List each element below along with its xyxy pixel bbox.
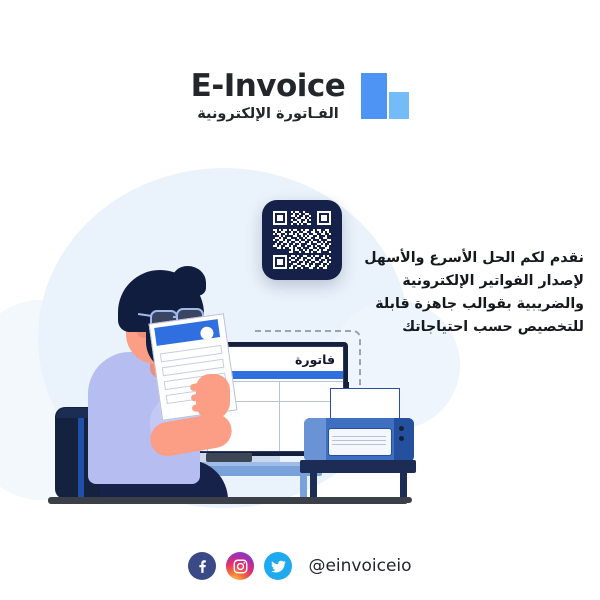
keyboard-dark-part (206, 453, 252, 462)
twitter-icon[interactable] (264, 552, 292, 580)
printer-table-top (300, 460, 416, 473)
facebook-icon[interactable] (188, 552, 216, 580)
social-footer: @einvoiceio (0, 545, 600, 587)
printer-indicator-2 (399, 436, 404, 441)
printer-table-leg-right (400, 473, 407, 498)
logo-bar-tall (361, 73, 387, 119)
invoice-title: فاتورة (295, 352, 335, 367)
floor-shadow-right (300, 497, 412, 503)
bar-chart-logo-icon (361, 73, 409, 119)
printer-right-panel (394, 418, 414, 462)
page-subtitle: الفـاتورة الإلكترونية (197, 106, 339, 122)
chair-slat-1 (78, 418, 84, 500)
printer-left-panel (304, 418, 326, 462)
logo-bar-short (389, 92, 409, 119)
page-title: E-Invoice (191, 70, 346, 103)
document-logo-dot (200, 326, 215, 341)
brand-header: E-Invoice الفـاتورة الإلكترونية (0, 62, 600, 130)
poster-canvas: E-Invoice الفـاتورة الإلكترونية نقدم لكم… (0, 0, 600, 600)
qr-code-pattern (273, 211, 331, 269)
person-hair-tuft (172, 266, 206, 296)
printer-tray-lines (332, 436, 386, 450)
social-handle[interactable]: @einvoiceio (308, 556, 411, 576)
printer-table-leg-left (310, 473, 317, 498)
printer-indicator-1 (399, 426, 404, 431)
document-header-band (154, 319, 220, 346)
qr-code-icon (262, 200, 342, 280)
brand-text-block: E-Invoice الفـاتورة الإلكترونية (191, 70, 346, 123)
desk-leg-right (300, 476, 307, 498)
instagram-icon[interactable] (226, 552, 254, 580)
illustration: فاتورة (0, 160, 440, 520)
